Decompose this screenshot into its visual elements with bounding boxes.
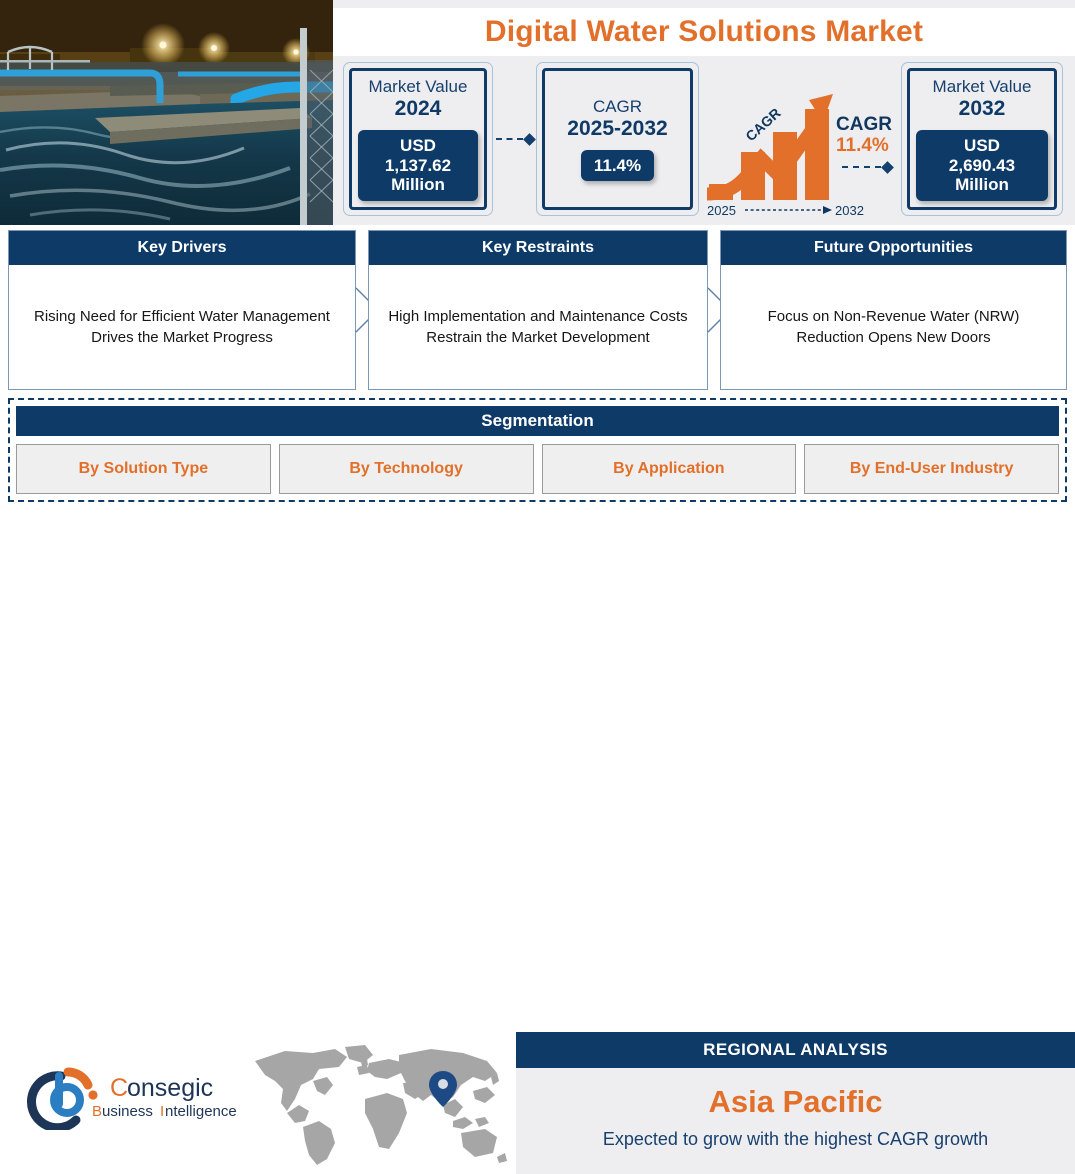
panel-future-opportunities: Future Opportunities Focus on Non-Revenu… <box>720 230 1067 390</box>
logo-tagline-intelligence-rest: ntelligence <box>165 1103 237 1120</box>
metric-value-line1: USD 1,137.62 <box>385 136 451 175</box>
panel-key-drivers: Key Drivers Rising Need for Efficient Wa… <box>8 230 356 390</box>
connector-dashed-1 <box>496 134 534 144</box>
logo-tagline-business: B <box>92 1103 102 1120</box>
infographic-page: Digital Water Solutions Market Market Va… <box>0 0 1075 660</box>
chart-axis-start-label: 2025 <box>707 203 736 218</box>
panel-text: High Implementation and Maintenance Cost… <box>369 265 707 390</box>
world-map <box>247 1041 509 1167</box>
chart-bar-4 <box>805 109 829 200</box>
panel-heading: Key Drivers <box>9 231 355 265</box>
regional-analysis-heading: REGIONAL ANALYSIS <box>516 1032 1075 1068</box>
panel-text: Focus on Non-Revenue Water (NRW) Reducti… <box>721 265 1066 390</box>
logo-b-bowl <box>54 1087 80 1113</box>
metric-value-line1: 11.4% <box>594 156 641 175</box>
panel-key-restraints: Key Restraints High Implementation and M… <box>368 230 708 390</box>
metric-value-pill: USD 1,137.62 Million <box>358 130 478 201</box>
logo-word-consegic: C <box>110 1074 128 1102</box>
map-pin-inner-dot <box>438 1079 448 1089</box>
connector-dashed-2 <box>842 162 892 172</box>
logo-orange-dot <box>88 1090 97 1099</box>
metric-label: CAGR <box>593 97 642 116</box>
hero-photo-water-treatment-plant <box>0 0 333 225</box>
connector-diamond <box>881 161 894 174</box>
panel-heading: Future Opportunities <box>721 231 1066 265</box>
connector-line <box>842 166 881 168</box>
segmentation-row: By Solution Type By Technology By Applic… <box>16 444 1059 494</box>
regional-analysis-subtitle: Expected to grow with the highest CAGR g… <box>516 1129 1075 1151</box>
metric-value-line1: USD 2,690.43 <box>949 136 1015 175</box>
world-map-landmasses <box>255 1045 507 1165</box>
cagr-callout-title: CAGR <box>836 115 900 135</box>
metric-value-line2: Million <box>391 175 445 194</box>
metric-value-pill: 11.4% <box>581 150 654 182</box>
bottom-section: C onsegic B usiness I ntelligence <box>0 514 1075 660</box>
metric-value-pill: USD 2,690.43 Million <box>916 130 1048 201</box>
logo-word-consegic-rest: onsegic <box>127 1074 213 1102</box>
regional-analysis-box: REGIONAL ANALYSIS Asia Pacific Expected … <box>516 1032 1075 1174</box>
cagr-callout-value: 11.4% <box>836 135 900 157</box>
segmentation-item-solution-type[interactable]: By Solution Type <box>16 444 271 494</box>
metric-card-market-value-2032: Market Value 2032 USD 2,690.43 Million <box>901 62 1063 216</box>
cagr-callout: CAGR 11.4% <box>836 115 900 157</box>
logo-orange-arc <box>68 1072 88 1085</box>
connector-diamond <box>523 133 536 146</box>
segmentation-section: Segmentation By Solution Type By Technol… <box>8 398 1067 502</box>
top-band: Digital Water Solutions Market Market Va… <box>0 0 1075 225</box>
regional-analysis-region: Asia Pacific <box>516 1085 1075 1119</box>
page-title: Digital Water Solutions Market <box>333 8 1075 56</box>
insight-panels: Key Drivers Rising Need for Efficient Wa… <box>0 230 1075 390</box>
metric-year: 2024 <box>395 97 442 121</box>
segmentation-item-end-user-industry[interactable]: By End-User Industry <box>804 444 1059 494</box>
metric-year: 2032 <box>959 97 1006 121</box>
chart-axis-end-label: 2032 <box>835 203 864 218</box>
segmentation-heading: Segmentation <box>16 406 1059 436</box>
metric-year: 2025-2032 <box>567 117 667 141</box>
segmentation-item-application[interactable]: By Application <box>542 444 797 494</box>
connector-line <box>496 138 523 140</box>
metric-label: Market Value <box>933 77 1032 96</box>
metric-label: Market Value <box>369 77 468 96</box>
metric-value-line2: Million <box>955 175 1009 194</box>
segmentation-item-technology[interactable]: By Technology <box>279 444 534 494</box>
metric-card-market-value-2024: Market Value 2024 USD 1,137.62 Million <box>343 62 493 216</box>
metric-card-cagr: CAGR 2025-2032 11.4% <box>536 62 699 216</box>
panel-heading: Key Restraints <box>369 231 707 265</box>
logo-tagline-intelligence: I <box>160 1103 164 1120</box>
brand-logo: C onsegic B usiness I ntelligence <box>14 1060 244 1130</box>
panel-text: Rising Need for Efficient Water Manageme… <box>9 265 355 390</box>
logo-tagline-business-rest: usiness <box>102 1103 153 1120</box>
